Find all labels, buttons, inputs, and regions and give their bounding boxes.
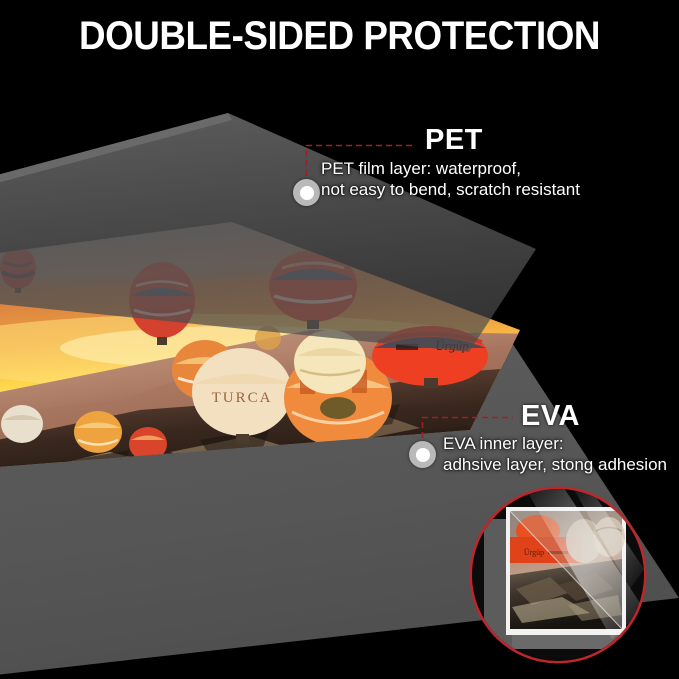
balloon [1, 405, 43, 443]
eva-marker-dot[interactable] [409, 441, 436, 468]
magnifier-detail-inset: Ürgüp [472, 489, 644, 661]
callout-pet: PET PET film layer: waterproof, not easy… [425, 126, 483, 155]
svg-text:TURCA: TURCA [212, 390, 273, 406]
callout-pet-description-line2: not easy to bend, scratch resistant [321, 180, 580, 201]
callout-eva-description: EVA inner layer: adhsive layer, stong ad… [443, 434, 667, 475]
callout-eva-description-line1: EVA inner layer: [443, 434, 667, 455]
balloon [74, 411, 122, 453]
magnifier-detail-content: Ürgüp [472, 489, 644, 661]
callout-pet-description-line1: PET film layer: waterproof, [321, 159, 580, 180]
pet-marker-dot[interactable] [293, 179, 320, 206]
callout-eva: EVA EVA inner layer: adhsive layer, ston… [521, 402, 580, 431]
callout-pet-description: PET film layer: waterproof, not easy to … [321, 159, 580, 200]
callout-pet-label: PET [425, 126, 483, 155]
infographic-canvas: DOUBLE-SIDED PROTECTION [0, 0, 679, 679]
callout-eva-description-line2: adhsive layer, stong adhesion [443, 455, 667, 476]
svg-text:Ürgüp: Ürgüp [524, 548, 544, 557]
callout-eva-label: EVA [521, 402, 580, 431]
